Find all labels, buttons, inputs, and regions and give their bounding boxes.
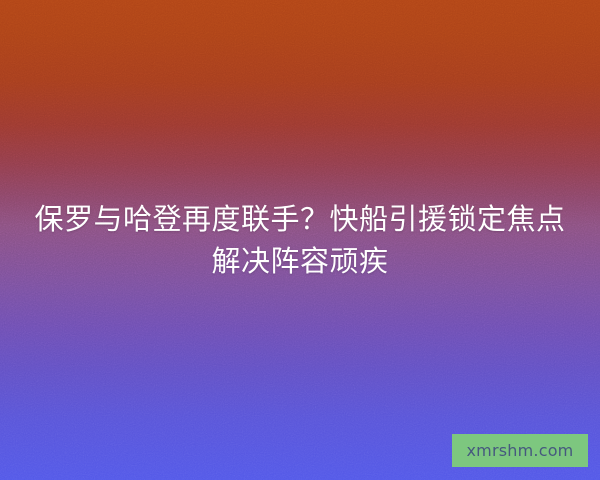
watermark-label: xmrshm.com [467,443,574,459]
poster-canvas: 保罗与哈登再度联手？快船引援锁定焦点 解决阵容顽疾 xmrshm.com [0,0,600,480]
poster-title: 保罗与哈登再度联手？快船引援锁定焦点 解决阵容顽疾 [0,198,600,282]
title-line-2: 解决阵容顽疾 [26,240,574,282]
watermark-badge[interactable]: xmrshm.com [452,434,588,467]
title-line-1: 保罗与哈登再度联手？快船引援锁定焦点 [26,198,574,240]
